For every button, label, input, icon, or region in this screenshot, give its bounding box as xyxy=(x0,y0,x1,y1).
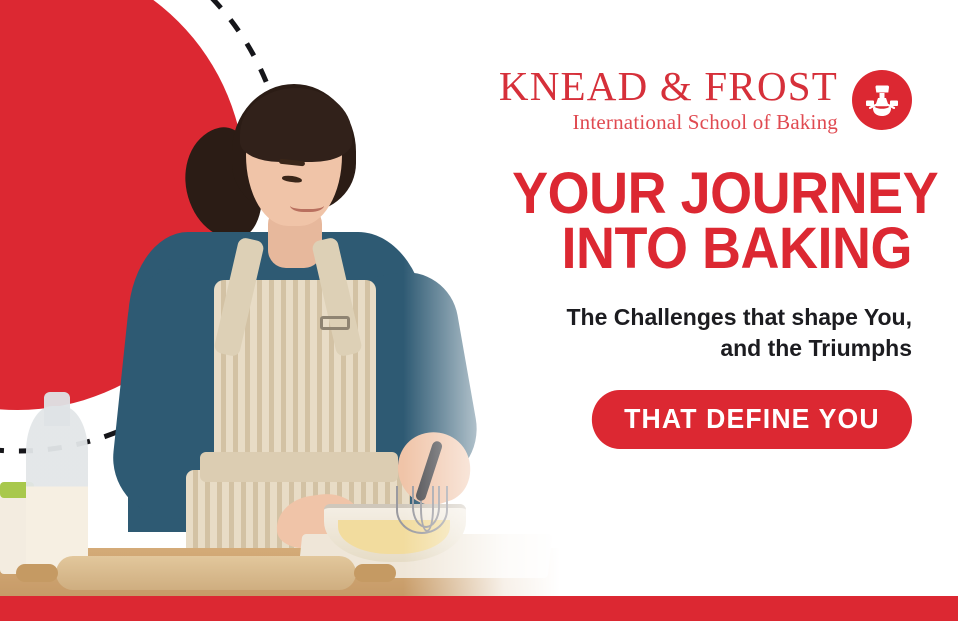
red-footer-bar xyxy=(0,596,958,621)
cta-row: THAT DEFINE YOU xyxy=(482,390,912,449)
headline-line-2: INTO BAKING xyxy=(512,222,912,277)
subtitle: The Challenges that shape You, and the T… xyxy=(482,302,912,364)
brand-logo-text: KNEAD & FROST International School of Ba… xyxy=(499,66,838,133)
mixer-emblem-icon xyxy=(852,70,912,130)
brand-logo[interactable]: KNEAD & FROST International School of Ba… xyxy=(482,66,912,133)
subtitle-line-2: and the Triumphs xyxy=(482,333,912,364)
hero-photo xyxy=(0,0,560,600)
headline-line-1: YOUR JOURNEY xyxy=(512,167,912,222)
brand-name: KNEAD & FROST xyxy=(499,66,838,107)
subtitle-line-1: The Challenges that shape You, xyxy=(482,302,912,333)
photo-fade-overlay xyxy=(0,0,560,600)
brand-tagline: International School of Baking xyxy=(499,112,838,133)
content-column: KNEAD & FROST International School of Ba… xyxy=(482,66,912,449)
promotional-banner: KNEAD & FROST International School of Ba… xyxy=(0,0,958,621)
cta-badge[interactable]: THAT DEFINE YOU xyxy=(592,390,912,449)
page-title: YOUR JOURNEY INTO BAKING xyxy=(512,167,912,276)
